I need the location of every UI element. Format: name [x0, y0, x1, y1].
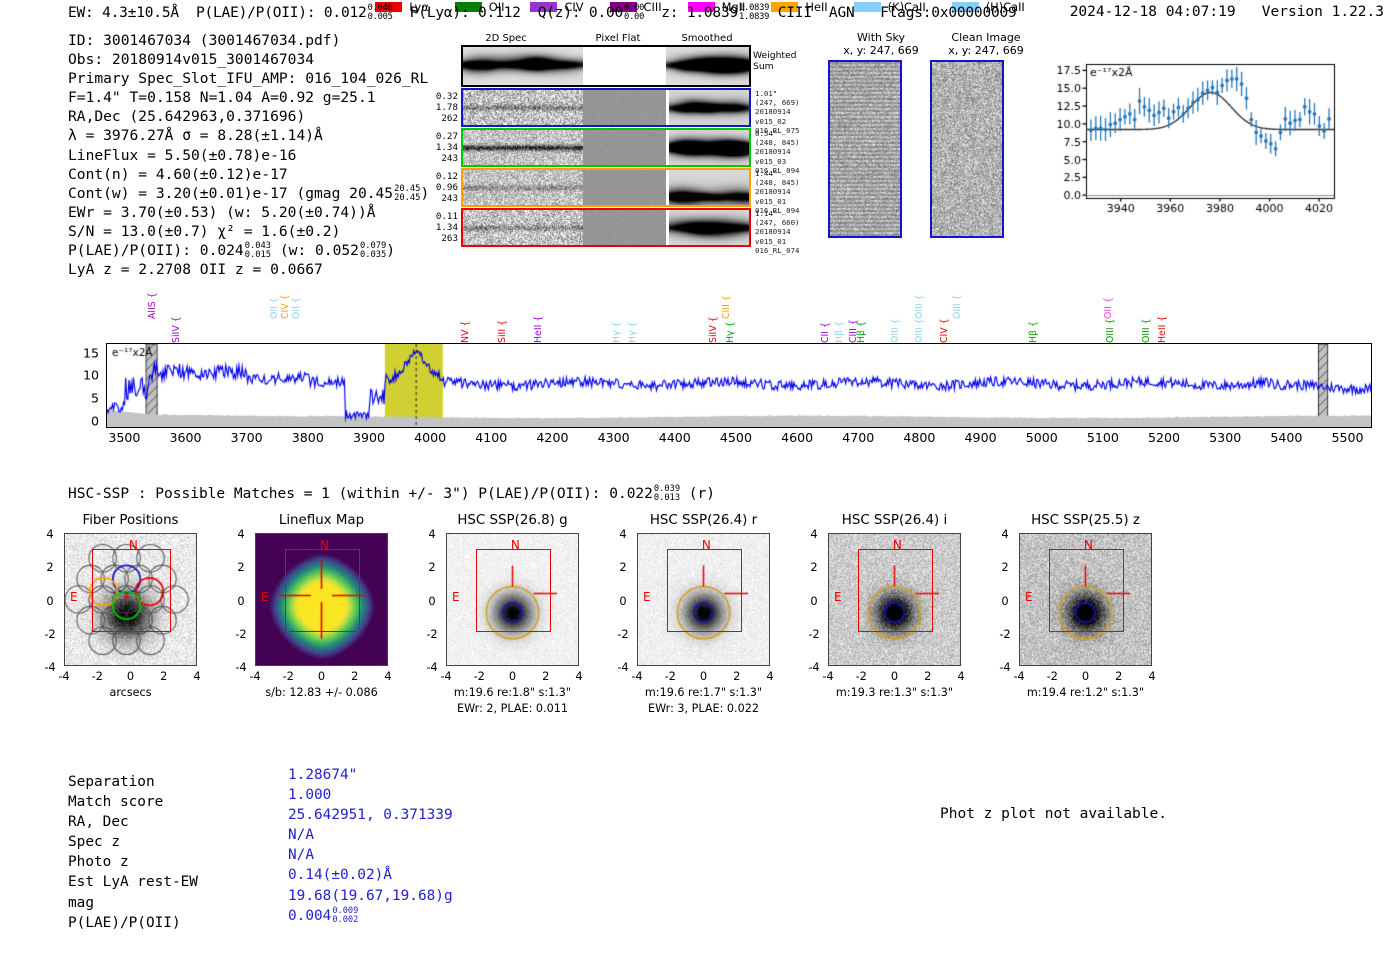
photz-message: Phot z plot not available.	[940, 806, 1167, 822]
detect-id: ID: 3001467034 (3001467034.pdf)	[68, 31, 429, 50]
spec-row-stats-3: 0.111.34263	[416, 211, 458, 245]
header-plae-frac: 0.0460.005	[368, 4, 393, 22]
hsc-summary-band: (r)	[689, 486, 715, 502]
cutout-xtick: 4	[1142, 669, 1162, 683]
aperture-box	[476, 549, 550, 631]
match-value: 1.28674"	[288, 765, 453, 785]
spec-row-panel-3	[461, 208, 751, 247]
detect-cont-n: Cont(n) = 4.60(±0.12)e-17	[68, 165, 429, 184]
spectrum-xtick: 5500	[1332, 430, 1364, 445]
match-value: 19.68(19.67,19.68)g	[288, 886, 453, 906]
cutout-ytick: 4	[40, 527, 60, 541]
north-marker: N	[320, 538, 329, 552]
spec-row-meta-line: 20180914	[755, 187, 800, 196]
spectrum-xtick: 3800	[292, 430, 324, 445]
emission-line-label: CIV {	[280, 275, 291, 319]
cutout-ytick: 2	[422, 560, 442, 574]
clean-image	[930, 60, 1004, 238]
weighted-sum-label: WeightedSum	[753, 50, 797, 73]
spec-row-stats-1: 0.271.34243	[416, 131, 458, 165]
header-flags: Flags:0x00000009	[880, 5, 1016, 21]
north-marker: N	[129, 538, 138, 552]
version-label: Version 1.22.3	[1262, 4, 1384, 20]
cutout-ytick: -4	[995, 660, 1015, 674]
spec-row-meta-line: v015_02	[755, 117, 800, 126]
emission-line-label: OIII {	[890, 299, 901, 343]
smoothed-cut	[669, 130, 751, 165]
cutout-image-2[interactable]: NE	[446, 533, 579, 666]
2dspec-cut	[463, 210, 583, 245]
spectrum-xtick: 5200	[1148, 430, 1180, 445]
cutout-ytick: 0	[40, 594, 60, 608]
spec-row-stat: 1.34	[416, 142, 458, 153]
match-key: mag	[68, 893, 198, 913]
cutout-ytick: 4	[804, 527, 824, 541]
spectrum-xtick: 5100	[1087, 430, 1119, 445]
cutout-ytick: 0	[804, 594, 824, 608]
emission-line-label: Hγ {	[627, 299, 638, 343]
cutout-ytick: 2	[995, 560, 1015, 574]
emission-line-label: OIII {	[952, 275, 963, 319]
spectrum-xtick: 3500	[108, 430, 140, 445]
header-z: z: 1.0839	[661, 5, 738, 21]
col-header-smoothed: Smoothed	[667, 33, 747, 44]
spec-row-meta-line: 016_RL_074	[755, 246, 800, 255]
cutout-ytick: -4	[231, 660, 251, 674]
detect-ewr: EWr = 3.70(±0.53) (w: 5.20(±0.74))Å	[68, 203, 429, 222]
cutout-ytick: 2	[613, 560, 633, 574]
spectrum-xtick: 5300	[1209, 430, 1241, 445]
with-sky-image	[828, 60, 902, 238]
header-plae: P(LAE)/P(OII): 0.012	[196, 5, 367, 21]
stamp-title-clean-image: Clean Imagex, y: 247, 669	[926, 31, 1046, 57]
hsc-plae-frac: 0.0390.013	[654, 485, 680, 503]
match-value: 0.0040.0090.002	[288, 906, 453, 926]
spec-row-meta-line: 20180914	[755, 107, 800, 116]
cutout-title: Fiber Positions	[38, 513, 223, 528]
detect-slot: Primary Spec_Slot_IFU_AMP: 016_104_026_R…	[68, 69, 429, 88]
emission-line-label: Hβ {	[834, 299, 845, 343]
spec-row-stat: 0.96	[416, 182, 458, 193]
spec-row-meta-line: 1.01"	[755, 89, 800, 98]
cutout-caption: m:19.4 re:1.2" s:1.3"	[989, 686, 1182, 699]
header-timestamp-block: 2024-12-18 04:07:19 Version 1.22.3	[1070, 4, 1384, 20]
cutout-xtick: 2	[345, 669, 365, 683]
spectrum-ytick: 5	[91, 391, 99, 406]
match-value: 0.14(±0.02)Å	[288, 865, 453, 885]
match-plae-frac: 0.0090.002	[332, 907, 358, 925]
east-marker: E	[452, 590, 460, 604]
detect-lineflux: LineFlux = 5.50(±0.78)e-16	[68, 146, 429, 165]
header-plya: P(Lyα): 0.112	[410, 5, 521, 21]
spec-row-meta-line: (248, 845)	[755, 138, 800, 147]
spectrum-yticks: 051015	[85, 343, 103, 428]
cutout-xtick: -2	[660, 669, 680, 683]
east-marker: E	[834, 590, 842, 604]
detection-info-block: ID: 3001467034 (3001467034.pdf) Obs: 201…	[68, 31, 429, 279]
header-class: AGN	[829, 5, 855, 21]
cutout-caption2: EWr: 2, PLAE: 0.011	[416, 702, 609, 715]
emission-line-label: Hγ {	[611, 299, 622, 343]
weighted-sum-strip	[461, 45, 751, 87]
header-ew: EW: 4.3±10.5Å	[68, 5, 179, 21]
emission-line-label: CIV {	[939, 299, 950, 343]
spec-row-stat: 0.27	[416, 131, 458, 142]
cutout-caption: m:19.3 re:1.3" s:1.3"	[798, 686, 991, 699]
detect-radec: RA,Dec (25.642963,0.371696)	[68, 107, 429, 126]
cutout-xtick: 2	[536, 669, 556, 683]
cutout-ytick: 0	[613, 594, 633, 608]
spec-row-panel-2	[461, 168, 751, 207]
pixelflat-cut	[583, 90, 666, 125]
spec-row-stat: 243	[416, 153, 458, 164]
cutout-title: HSC SSP(26.4) r	[611, 513, 796, 528]
cutout-ytick: 4	[422, 527, 442, 541]
cutout-ytick: 2	[40, 560, 60, 574]
spec-row-meta-3: 1.14"(247, 660)20180914v015_01016_RL_074	[755, 209, 800, 255]
cutout-image-5[interactable]: NE	[1019, 533, 1152, 666]
cutout-caption: m:19.6 re:1.8" s:1.3"	[416, 686, 609, 699]
2dspec-cut	[463, 170, 583, 205]
cutout-ytick: -4	[613, 660, 633, 674]
spec-row-panel-0	[461, 88, 751, 127]
spec-row-meta-line: v015_03	[755, 157, 800, 166]
header-qz-frac: 0.000.00	[624, 4, 644, 22]
cutout-ytick: 4	[995, 527, 1015, 541]
emission-line-label: HeII {	[533, 299, 544, 343]
cutout-ytick: 2	[231, 560, 251, 574]
smoothed-cut	[669, 90, 751, 125]
cutout-xtick: 2	[154, 669, 174, 683]
spec-row-stats-2: 0.120.96243	[416, 171, 458, 205]
cutout-ytick: -4	[422, 660, 442, 674]
match-key: Est LyA rest-EW	[68, 872, 198, 892]
cutout-xtick: 0	[503, 669, 523, 683]
emission-line-labels: AlIS {SiIV {OII {CIV {OII {NV {SiII {HeI…	[85, 275, 1385, 345]
cutout-ytick: 4	[613, 527, 633, 541]
spectrum-xtick: 4700	[842, 430, 874, 445]
spectrum-ytick: 15	[83, 345, 99, 360]
cutout-ytick: 4	[231, 527, 251, 541]
spec-row-panel-1	[461, 128, 751, 167]
spec-row-meta-line: v015_01	[755, 197, 800, 206]
plae-w-frac: 0.0790.035	[360, 242, 386, 260]
col-header-pixelflat: Pixel Flat	[573, 33, 663, 44]
emission-line-label: OIII {	[1141, 299, 1152, 343]
header-summary-line: EW: 4.3±10.5Å P(LAE)/P(OII): 0.0120.0460…	[68, 4, 1017, 22]
north-marker: N	[511, 538, 520, 552]
spec-row-stat: 262	[416, 113, 458, 124]
cutout-ytick: -2	[804, 627, 824, 641]
2dspec-cut	[463, 90, 583, 125]
smoothed-cut	[669, 170, 751, 205]
aperture-box	[858, 549, 932, 631]
cutout-image-1[interactable]: NE	[255, 533, 388, 666]
spectrum-xtick: 4100	[475, 430, 507, 445]
spectrum-ytick: 0	[91, 413, 99, 428]
aperture-box	[285, 549, 359, 631]
detect-plae: P(LAE)/P(OII): 0.0240.0430.015 (w: 0.052…	[68, 241, 429, 260]
header-z-frac: 1.08391.0839	[739, 4, 769, 22]
spec-row-meta-line: 0.54"	[755, 129, 800, 138]
detect-obs: Obs: 20180914v015_3001467034	[68, 50, 429, 69]
spec-row-stat: 243	[416, 193, 458, 204]
emission-line-label: SiIV {	[171, 299, 182, 343]
spectrum-axes	[106, 343, 1372, 428]
cutout-ytick: -2	[995, 627, 1015, 641]
spectrum-xtick: 4000	[414, 430, 446, 445]
cutout-ytick: -2	[422, 627, 442, 641]
east-marker: E	[70, 590, 78, 604]
cutout-xtick: 0	[312, 669, 332, 683]
spectrum-xtick: 4900	[965, 430, 997, 445]
north-marker: N	[702, 538, 711, 552]
spectrum-xtick: 4800	[903, 430, 935, 445]
spec-row-meta-line: 1.44"	[755, 169, 800, 178]
header-qz: Q(z): 0.00	[538, 5, 623, 21]
detect-cont-w: Cont(w) = 3.20(±0.01)e-17 (gmag 20.4520.…	[68, 184, 429, 203]
cutout-image-3[interactable]: NE	[637, 533, 770, 666]
cutout-ytick: 2	[804, 560, 824, 574]
col-header-2dspec: 2D Spec	[466, 33, 546, 44]
emission-line-label: SiIV {	[708, 299, 719, 343]
emission-line-label: Hβ {	[856, 299, 867, 343]
spectrum-xtick: 3900	[353, 430, 385, 445]
spec-row-meta-line: (248, 845)	[755, 178, 800, 187]
spectrum-xtick: 4400	[659, 430, 691, 445]
spectrum-xtick: 4200	[536, 430, 568, 445]
spectrum-ytick: 10	[83, 368, 99, 383]
cutout-title: HSC SSP(26.4) i	[802, 513, 987, 528]
spec-row-stats-0: 0.321.78262	[416, 91, 458, 125]
east-marker: E	[261, 590, 269, 604]
cutout-xtick: -2	[851, 669, 871, 683]
pixelflat-cut	[583, 130, 666, 165]
cutout-ytick: 0	[422, 594, 442, 608]
spectrum-xtick: 5400	[1270, 430, 1302, 445]
pixelflat-cut	[583, 210, 666, 245]
detect-sn: S/N = 13.0(±0.7) χ² = 1.6(±0.2)	[68, 222, 429, 241]
cutout-xtick: 4	[951, 669, 971, 683]
match-value: 25.642951, 0.371339	[288, 805, 453, 825]
north-marker: N	[1084, 538, 1093, 552]
east-marker: E	[643, 590, 651, 604]
cutout-ytick: -2	[231, 627, 251, 641]
aperture-box	[667, 549, 741, 631]
emission-line-label: OIII {	[914, 275, 925, 319]
cutout-xtick: 4	[569, 669, 589, 683]
match-key: Separation	[68, 772, 198, 792]
cutout-xtick: 2	[727, 669, 747, 683]
cutout-ytick: -4	[804, 660, 824, 674]
emission-line-label: OII {	[269, 275, 280, 319]
match-key: RA, Dec	[68, 812, 198, 832]
cutout-xlabel: arcsecs	[38, 686, 223, 699]
spectrum-xtick: 5000	[1026, 430, 1058, 445]
match-key: Photo z	[68, 852, 198, 872]
emission-line-label: CIII {	[721, 275, 732, 319]
spec-row-meta-line: (247, 660)	[755, 218, 800, 227]
match-value: N/A	[288, 845, 453, 865]
east-marker: E	[1025, 590, 1033, 604]
cutout-title: HSC SSP(26.8) g	[420, 513, 605, 528]
spec-row-stat: 1.78	[416, 102, 458, 113]
emission-line-label: HeII {	[1157, 299, 1168, 343]
timestamp: 2024-12-18 04:07:19	[1070, 4, 1236, 20]
cutout-ytick: -2	[613, 627, 633, 641]
cutout-caption: m:19.6 re:1.7" s:1.3"	[607, 686, 800, 699]
cutout-title: HSC SSP(25.5) z	[993, 513, 1178, 528]
cutout-image-0[interactable]: NE	[64, 533, 197, 666]
match-value: N/A	[288, 825, 453, 845]
spectrum-xtick: 4500	[720, 430, 752, 445]
aperture-box	[92, 549, 172, 631]
emission-line-label: Hβ {	[1028, 299, 1039, 343]
cutout-title: Lineflux Map	[229, 513, 414, 528]
emission-line-label: CII {	[820, 299, 831, 343]
cutout-ytick: 0	[995, 594, 1015, 608]
spec-row-stat: 263	[416, 233, 458, 244]
detect-wavelength: λ = 3976.27Å σ = 8.28(±1.14)Å	[68, 126, 429, 145]
cutout-xtick: -2	[87, 669, 107, 683]
emission-line-label: OII {	[291, 275, 302, 319]
pixelflat-cut	[583, 170, 666, 205]
spec-row-stat: 1.34	[416, 222, 458, 233]
aperture-box	[1049, 549, 1123, 631]
cutout-xtick: 4	[760, 669, 780, 683]
spec-row-stat: 0.11	[416, 211, 458, 222]
pixel-flat-empty	[583, 47, 666, 85]
spec-row-meta-line: 20180914	[755, 147, 800, 156]
cutout-xtick: 2	[918, 669, 938, 683]
spec-row-stat: 0.32	[416, 91, 458, 102]
match-key: Spec z	[68, 832, 198, 852]
full-spectrum-plot: AlIS {SiIV {OII {CIV {OII {NV {SiII {HeI…	[85, 275, 1385, 450]
cutout-xtick: -2	[278, 669, 298, 683]
2dspec-cut	[463, 130, 583, 165]
spec-row-meta-line: v015_01	[755, 237, 800, 246]
cutout-xtick: 0	[121, 669, 141, 683]
cutout-xtick: 0	[694, 669, 714, 683]
spectrum-xtick: 4300	[598, 430, 630, 445]
emission-line-label: AlIS {	[147, 275, 158, 319]
spec-row-meta-line: 20180914	[755, 227, 800, 236]
smoothed-cut	[669, 210, 751, 245]
stamp-title-with-sky: With Skyx, y: 247, 669	[826, 31, 936, 57]
match-keys: SeparationMatch scoreRA, DecSpec zPhoto …	[68, 772, 198, 933]
cutout-xtick: -2	[469, 669, 489, 683]
match-value: 1.000	[288, 785, 453, 805]
cutout-xtick: 4	[187, 669, 207, 683]
cutout-xtick: 0	[885, 669, 905, 683]
spec-row-stat: 0.12	[416, 171, 458, 182]
hsc-summary-text: HSC-SSP : Possible Matches = 1 (within +…	[68, 486, 653, 502]
emission-line-label: OII {	[1103, 275, 1114, 319]
emission-line-label: NV {	[460, 299, 471, 343]
spec-row-meta-line: 1.14"	[755, 209, 800, 218]
spectrum-xtick: 4600	[781, 430, 813, 445]
north-marker: N	[893, 538, 902, 552]
line-fit-plot	[1040, 56, 1340, 226]
cutout-xtick: 4	[378, 669, 398, 683]
cutout-caption: s/b: 12.83 +/- 0.086	[225, 686, 418, 699]
cutout-ytick: 0	[231, 594, 251, 608]
match-key: P(LAE)/P(OII)	[68, 913, 198, 933]
match-values: 1.28674"1.00025.642951, 0.371339N/AN/A0.…	[288, 765, 453, 926]
cutout-xtick: -2	[1042, 669, 1062, 683]
match-key: Match score	[68, 792, 198, 812]
cutout-ytick: -4	[40, 660, 60, 674]
cutout-caption2: EWr: 3, PLAE: 0.022	[607, 702, 800, 715]
hsc-summary-line: HSC-SSP : Possible Matches = 1 (within +…	[68, 485, 715, 503]
cutout-ytick: -2	[40, 627, 60, 641]
header-line-id: CIII	[778, 5, 812, 21]
spec-row-meta-line: (247, 669)	[755, 98, 800, 107]
cutout-image-4[interactable]: NE	[828, 533, 961, 666]
cutout-xtick: 2	[1109, 669, 1129, 683]
emission-line-label: SiII {	[497, 299, 508, 343]
detect-seeing: F=1.4" T=0.158 N=1.04 A=0.92 g=25.1	[68, 88, 429, 107]
plae-frac: 0.0430.015	[245, 242, 271, 260]
spectrum-xtick: 3700	[231, 430, 263, 445]
cutout-xtick: 0	[1076, 669, 1096, 683]
spectrum-xtick: 3600	[169, 430, 201, 445]
